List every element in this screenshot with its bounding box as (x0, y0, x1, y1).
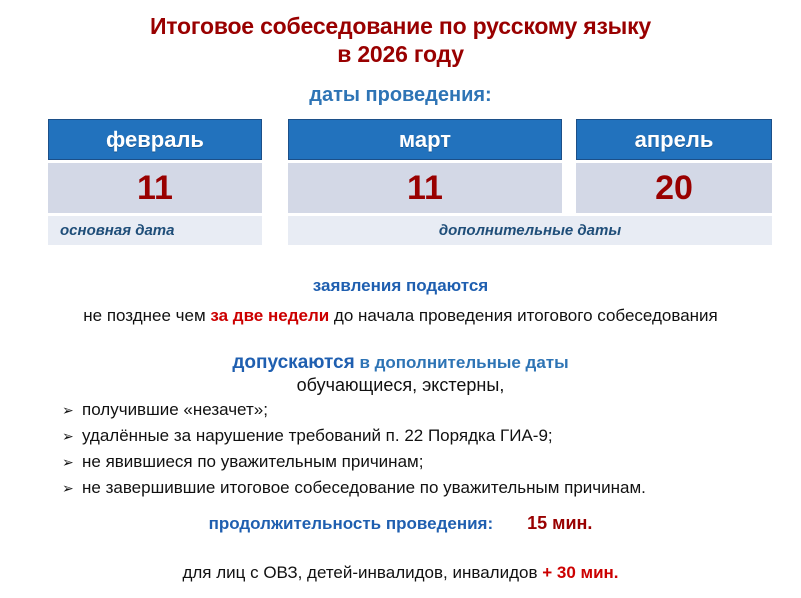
applications-heading: заявления подаются (0, 276, 801, 296)
list-item: ➢ не явившиеся по уважительным причинам; (62, 450, 762, 474)
duration-value: 15 мин. (527, 513, 592, 533)
applications-text: не позднее чем за две недели до начала п… (0, 306, 801, 326)
admission-subject: обучающиеся, экстерны, (0, 375, 801, 396)
list-item-label: не явившиеся по уважительным причинам; (82, 450, 423, 473)
list-item-label: удалённые за нарушение требований п. 22 … (82, 424, 553, 447)
dates-subtitle: даты проведения: (0, 84, 801, 107)
applications-text-after: до начала проведения итогового собеседов… (329, 306, 718, 325)
admission-heading: допускаются в дополнительные даты (0, 352, 801, 374)
date-value-march: 11 (288, 163, 562, 213)
date-kind-main: основная дата (48, 216, 262, 245)
admission-heading-soft: в дополнительные даты (355, 353, 569, 372)
month-header-april: апрель (576, 119, 772, 160)
arrow-bullet-icon: ➢ (62, 399, 82, 422)
list-item-label: получившие «незачет»; (82, 398, 268, 421)
extra-time-value: + 30 мин. (542, 563, 618, 582)
list-item: ➢ не завершившие итоговое собеседование … (62, 476, 762, 500)
arrow-bullet-icon: ➢ (62, 477, 82, 500)
duration-row: продолжительность проведения:15 мин. (0, 513, 801, 534)
date-value-february: 11 (48, 163, 262, 213)
list-item: ➢ получившие «незачет»; (62, 398, 762, 422)
duration-label: продолжительность проведения: (209, 514, 494, 533)
applications-text-before: не позднее чем (83, 306, 210, 325)
extra-time-label: для лиц с ОВЗ, детей-инвалидов, инвалидо… (182, 563, 542, 582)
date-value-april: 20 (576, 163, 772, 213)
extra-time-row: для лиц с ОВЗ, детей-инвалидов, инвалидо… (0, 563, 801, 583)
page-title: Итоговое собеседование по русскому языку… (0, 12, 801, 68)
month-header-february: февраль (48, 119, 262, 160)
admission-list: ➢ получившие «незачет»; ➢ удалённые за н… (62, 398, 762, 502)
arrow-bullet-icon: ➢ (62, 451, 82, 474)
admission-heading-strong: допускаются (232, 352, 354, 373)
applications-deadline-highlight: за две недели (210, 306, 329, 325)
arrow-bullet-icon: ➢ (62, 425, 82, 448)
page-title-line-1: Итоговое собеседование по русскому языку (150, 13, 651, 39)
date-kind-extra: дополнительные даты (288, 216, 772, 245)
dates-table: февраль март апрель 11 11 20 основная да… (48, 119, 772, 245)
page-title-line-2: в 2026 году (0, 40, 801, 68)
month-header-march: март (288, 119, 562, 160)
list-item-label: не завершившие итоговое собеседование по… (82, 476, 646, 499)
list-item: ➢ удалённые за нарушение требований п. 2… (62, 424, 762, 448)
